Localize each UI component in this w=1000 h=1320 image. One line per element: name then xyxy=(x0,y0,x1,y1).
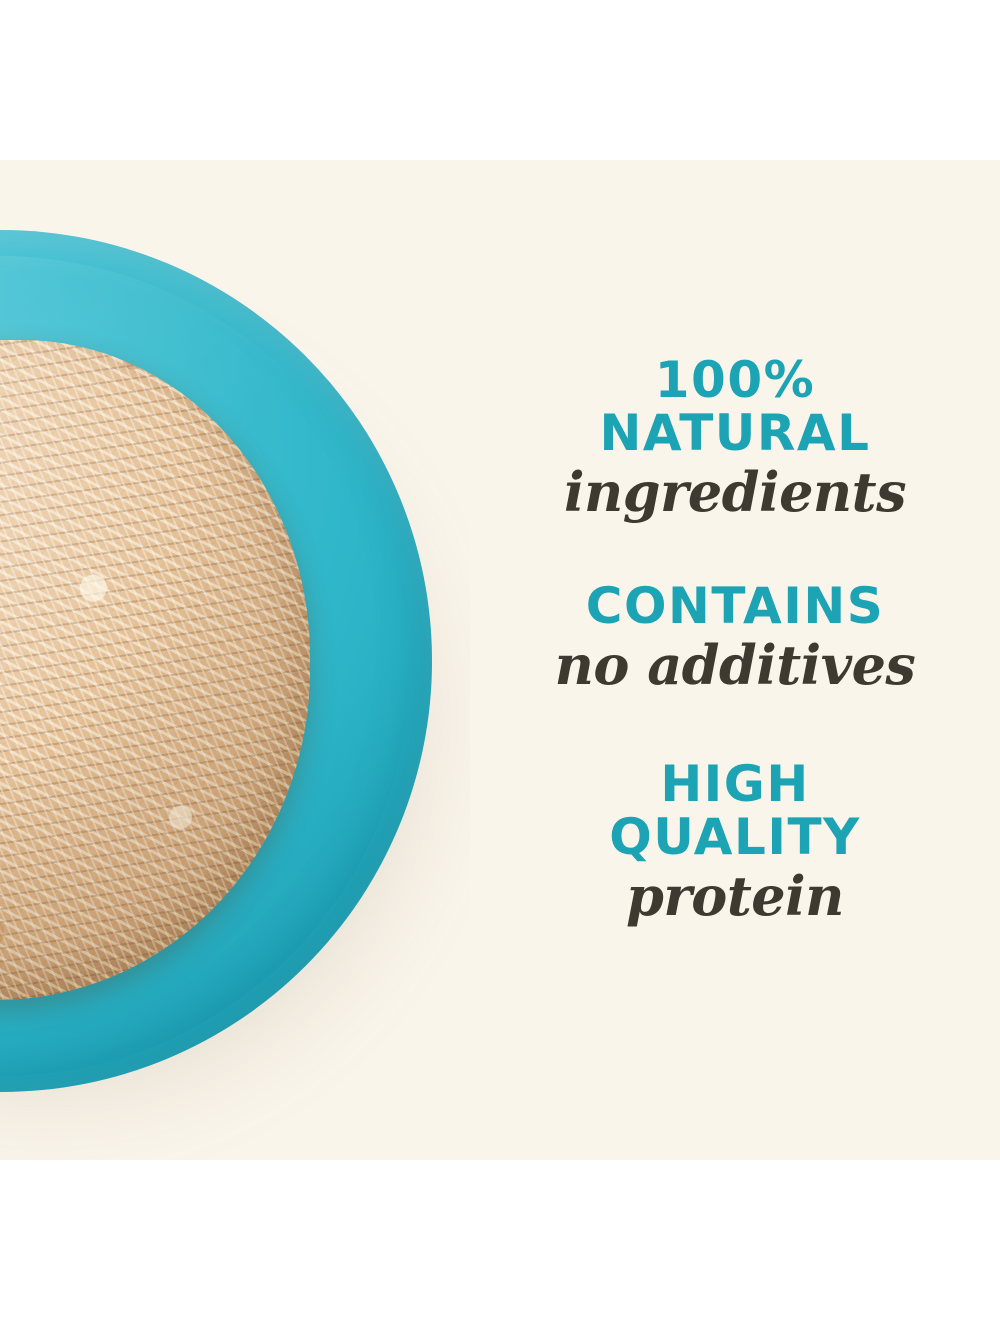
claims-column: 100% NATURAL ingredients CONTAINS no add… xyxy=(470,160,1000,1160)
claim-1-lead: 100% NATURAL xyxy=(470,354,1000,460)
claim-1-script: ingredients xyxy=(470,464,1000,520)
claim-3-lead-line-2: QUALITY xyxy=(609,808,861,866)
claim-2-lead: CONTAINS xyxy=(470,580,1000,633)
claim-2-script: no additives xyxy=(470,637,1000,693)
claim-3-lead-line-1: HIGH xyxy=(660,755,809,813)
shredded-tuna-mound xyxy=(0,340,310,1000)
product-photo xyxy=(0,160,470,1160)
claim-high-quality-protein: HIGH QUALITY protein xyxy=(470,758,1000,924)
food-shading-layer xyxy=(0,340,310,1000)
claim-1-lead-line-2: NATURAL xyxy=(600,404,871,462)
claim-3-lead: HIGH QUALITY xyxy=(470,758,1000,864)
claim-natural-ingredients: 100% NATURAL ingredients xyxy=(470,354,1000,520)
claim-3-script: protein xyxy=(470,868,1000,924)
product-feature-panel: 100% NATURAL ingredients CONTAINS no add… xyxy=(0,0,1000,1320)
claim-1-lead-line-1: 100% xyxy=(655,351,815,409)
claim-2-lead-line-1: CONTAINS xyxy=(586,577,884,635)
claim-no-additives: CONTAINS no additives xyxy=(470,580,1000,693)
